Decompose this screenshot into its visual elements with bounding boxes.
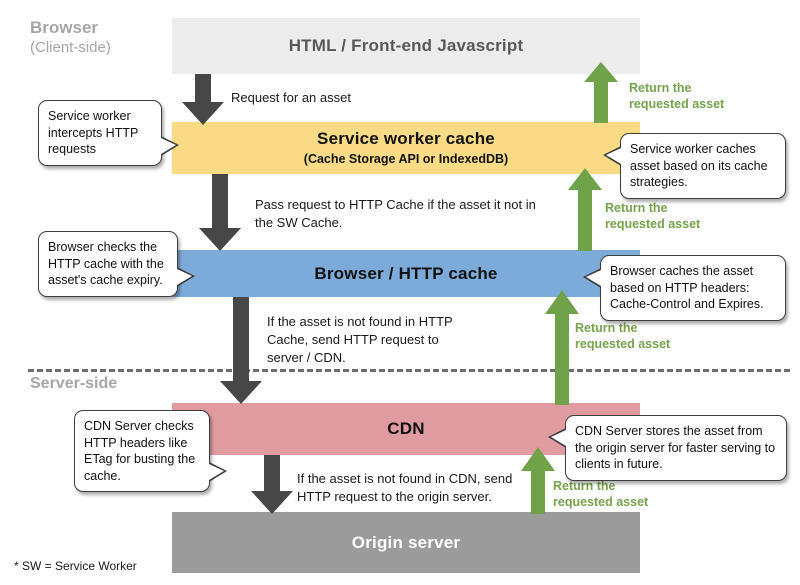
down-arrow-http-cache-to-cdn (219, 297, 263, 405)
green-label-return-asset-2: Return the requested asset (605, 200, 700, 232)
green-label-return-asset-1: Return the requested asset (629, 80, 724, 112)
layer-origin-server[interactable]: Origin server (172, 512, 640, 573)
diagram-canvas: Browser (Client-side) Server-side HTML /… (0, 0, 800, 585)
region-label-browser-subtitle: (Client-side) (30, 38, 111, 58)
layer-html-frontend-title: HTML / Front-end Javascript (289, 36, 524, 56)
region-label-server-title: Server-side (30, 374, 117, 394)
layer-service-worker-cache[interactable]: Service worker cache (Cache Storage API … (172, 122, 640, 174)
down-arrow-cdn-to-origin (250, 455, 294, 515)
green-label-return-asset-3: Return the requested asset (575, 320, 670, 352)
region-label-server: Server-side (30, 374, 117, 394)
layer-browser-http-cache-title: Browser / HTTP cache (314, 264, 497, 284)
callout-browser-caches-asset: Browser caches the asset based on HTTP h… (600, 255, 786, 321)
up-arrow-origin-to-cdn (520, 447, 556, 515)
callout-cdn-stores-asset: CDN Server stores the asset from the ori… (565, 415, 787, 481)
flow-label-request-for-an-asset: Request for an asset (231, 89, 351, 107)
layer-cdn-title: CDN (387, 419, 424, 439)
green-label-return-asset-4: Return the requested asset (553, 478, 648, 510)
flow-label-pass-to-http-cache: Pass request to HTTP Cache if the asset … (255, 196, 536, 232)
flow-label-not-found-in-cdn: If the asset is not found in CDN, send H… (297, 470, 512, 506)
layer-html-frontend[interactable]: HTML / Front-end Javascript (172, 18, 640, 74)
callout-service-worker-intercepts: Service worker intercepts HTTP requests (38, 100, 162, 166)
callout-cdn-checks-headers: CDN Server checks HTTP headers like ETag… (74, 410, 210, 492)
up-arrow-http-cache-to-sw (567, 168, 603, 252)
region-label-browser: Browser (Client-side) (30, 18, 111, 58)
flow-label-not-found-in-http: If the asset is not found in HTTP Cache,… (267, 313, 453, 367)
callout-browser-checks-http-cache: Browser checks the HTTP cache with the a… (38, 231, 178, 297)
region-label-browser-title: Browser (30, 18, 111, 38)
layer-service-worker-cache-title: Service worker cache (317, 129, 495, 149)
layer-service-worker-cache-subtitle: (Cache Storage API or IndexedDB) (304, 151, 508, 167)
up-arrow-sw-to-html (583, 62, 619, 124)
callout-service-worker-caches: Service worker caches asset based on its… (620, 133, 786, 199)
down-arrow-sw-to-http-cache (198, 174, 242, 252)
down-arrow-html-to-sw (181, 74, 225, 126)
footnote-sw-abbreviation: * SW = Service Worker (14, 559, 137, 573)
client-server-divider (28, 369, 790, 372)
layer-origin-server-title: Origin server (352, 533, 460, 553)
